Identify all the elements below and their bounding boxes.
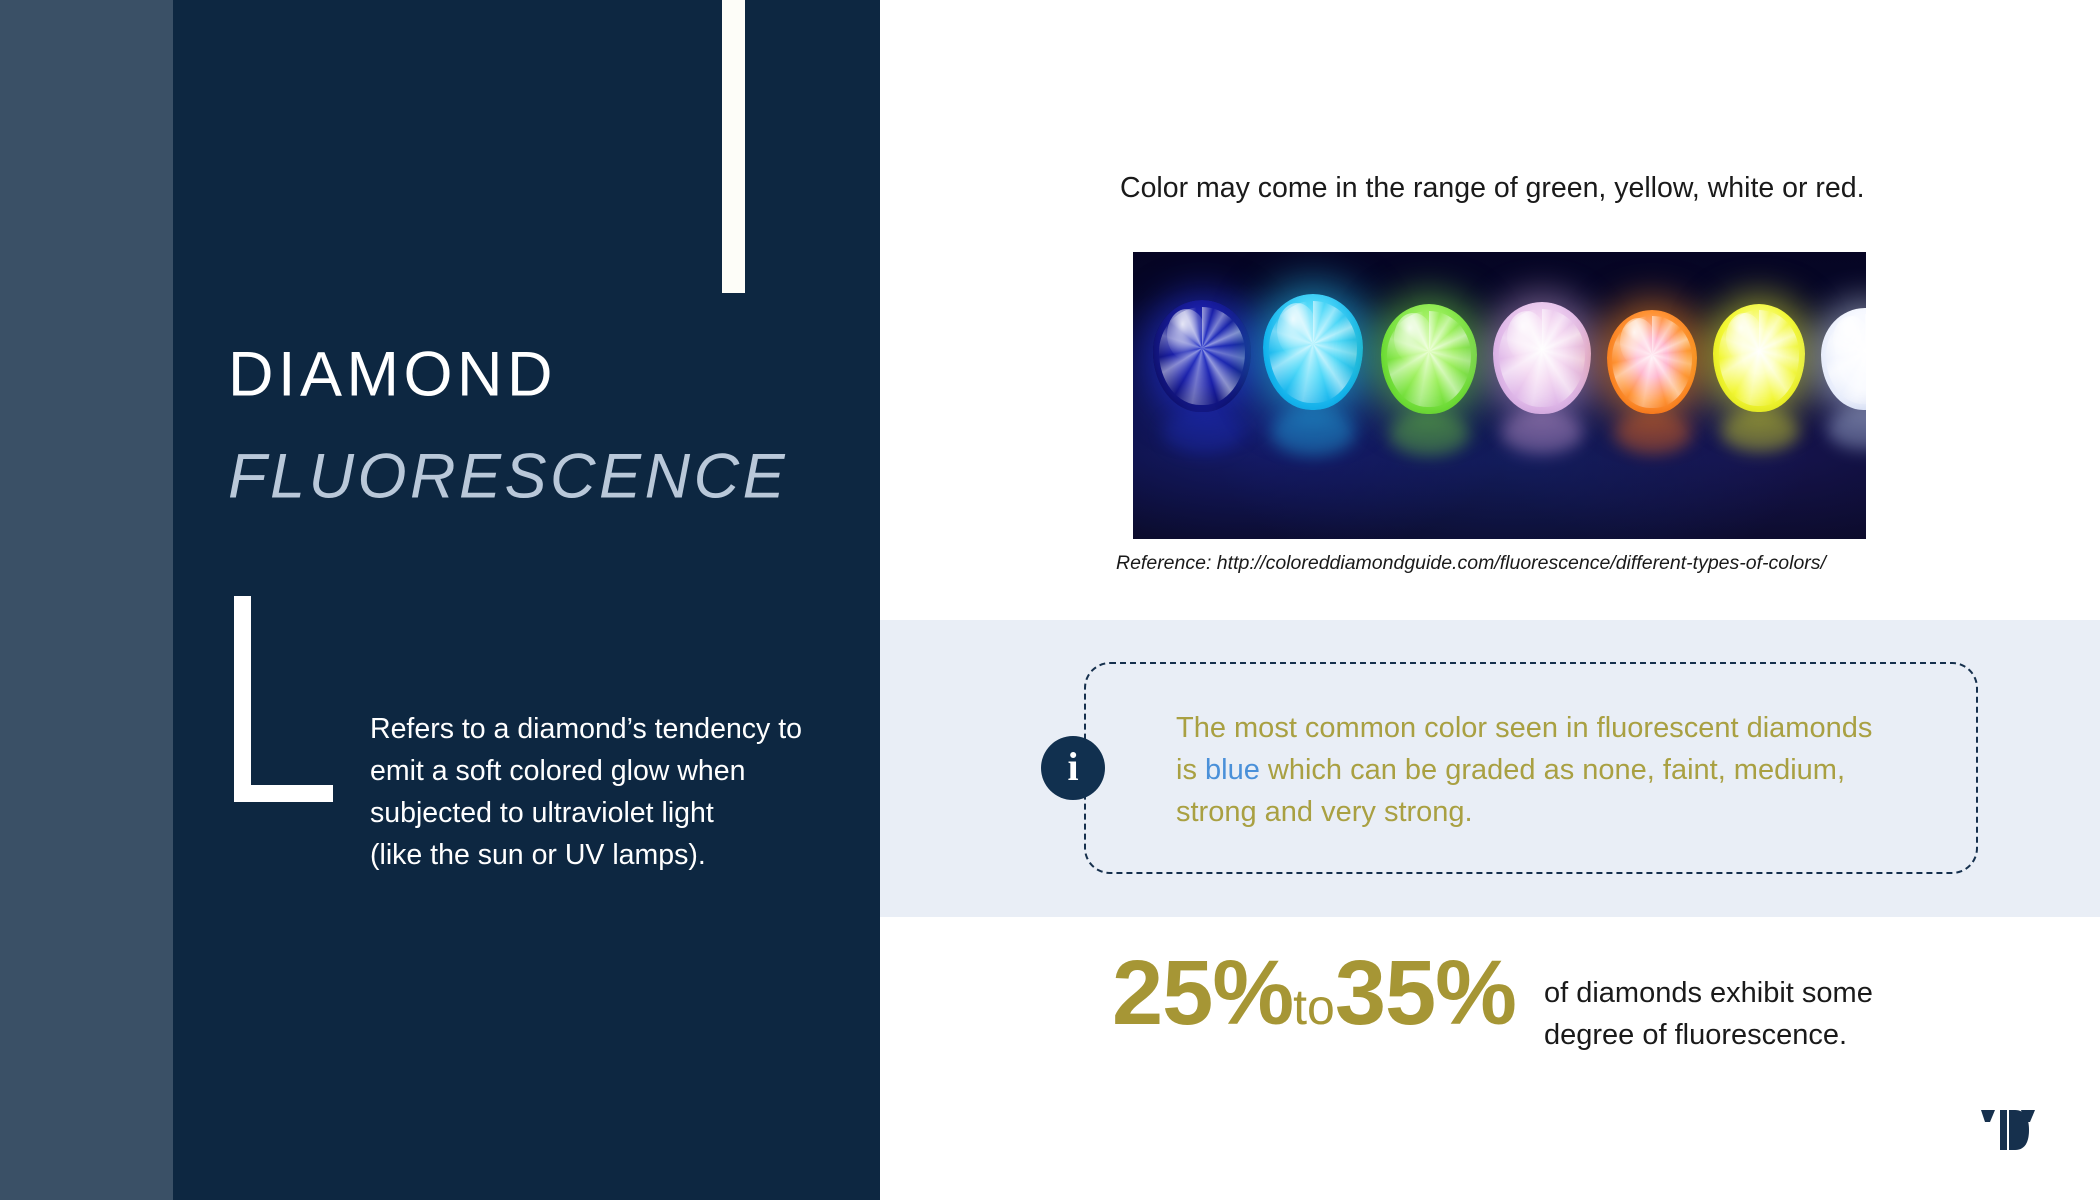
- callout-text: The most common color seen in fluorescen…: [1176, 707, 1956, 833]
- page-subtitle: FLUORESCENCE: [228, 446, 788, 509]
- statistic-low: 25%: [1112, 942, 1293, 1044]
- callout-line-3: strong and very strong.: [1176, 791, 1956, 833]
- brand-logo: [1975, 1100, 2039, 1160]
- gem-sheen: [1394, 313, 1432, 364]
- gem-sheen: [1620, 318, 1656, 366]
- gem-sheen: [1507, 311, 1546, 363]
- gem-blue: [1153, 300, 1251, 412]
- callout-line-2-pre: is: [1176, 754, 1205, 786]
- gem-orange: [1607, 310, 1697, 414]
- statistic-high: 35%: [1335, 942, 1516, 1044]
- callout-highlight-blue: blue: [1205, 754, 1260, 786]
- l-bracket-vertical: [234, 596, 251, 802]
- l-bracket-horizontal: [234, 785, 333, 802]
- photo-reference: Reference: http://coloreddiamondguide.co…: [1116, 552, 1826, 575]
- gem-sheen: [1726, 313, 1763, 363]
- fluorescent-diamonds-photo: [1133, 252, 1866, 539]
- gem-reflection: [1389, 412, 1469, 456]
- gem-reflection: [1721, 410, 1799, 452]
- callout-line-2: is blue which can be graded as none, fai…: [1176, 749, 1956, 791]
- gem-reflection: [1163, 410, 1243, 454]
- gem-reflection: [1615, 412, 1691, 454]
- callout-line-2-post: which can be graded as none, faint, medi…: [1260, 754, 1845, 786]
- statistic-figure: 25%to35%: [1112, 950, 1516, 1050]
- statistic-description-line: degree of fluorescence.: [1544, 1014, 1873, 1056]
- l-bracket-accent: [234, 596, 334, 802]
- info-icon: i: [1041, 736, 1105, 800]
- callout-line-1: The most common color seen in fluorescen…: [1176, 707, 1956, 749]
- gem-cyan: [1263, 294, 1363, 410]
- gem-green: [1381, 304, 1477, 414]
- gem-yellow: [1713, 304, 1805, 412]
- definition-line: (like the sun or UV lamps).: [370, 834, 840, 876]
- page-title: DIAMOND: [228, 344, 557, 407]
- gem-sheen: [1833, 316, 1866, 363]
- definition-line: subjected to ultraviolet light: [370, 792, 840, 834]
- slide-canvas: DIAMOND FLUORESCENCE Refers to a diamond…: [0, 0, 2100, 1200]
- definition-line: Refers to a diamond’s tendency to: [370, 708, 840, 750]
- gem-reflection: [1501, 410, 1583, 454]
- statistic-description-line: of diamonds exhibit some: [1544, 972, 1873, 1014]
- color-range-caption: Color may come in the range of green, ye…: [1120, 172, 1865, 205]
- gem-pink: [1493, 302, 1591, 414]
- top-accent-bar: [722, 0, 745, 293]
- statistic-connector: to: [1293, 979, 1335, 1035]
- gem-sheen: [1167, 309, 1206, 361]
- gem-reflection: [1271, 408, 1355, 456]
- left-edge-strip: [0, 0, 173, 1200]
- info-icon-glyph: i: [1067, 747, 1078, 790]
- definition-line: emit a soft colored glow when: [370, 750, 840, 792]
- statistic-description: of diamonds exhibit some degree of fluor…: [1544, 972, 1873, 1056]
- statistic-row: 25%to35% of diamonds exhibit some degree…: [1112, 950, 1873, 1056]
- gem-sheen: [1277, 303, 1317, 356]
- definition-text: Refers to a diamond’s tendency to emit a…: [370, 708, 840, 876]
